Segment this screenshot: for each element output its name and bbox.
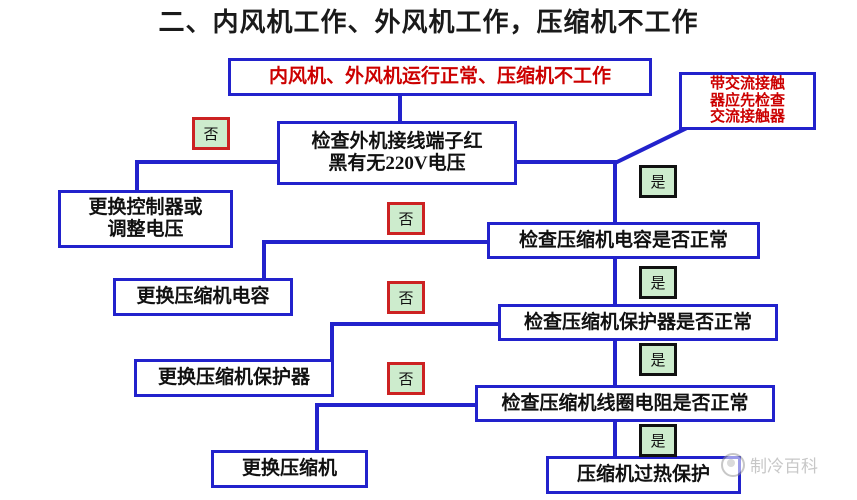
trunk-segment-2 [613, 258, 617, 308]
branch-chip-yes-3[interactable]: 是 [639, 343, 677, 376]
connector-check3-no-vertical [330, 322, 334, 360]
trunk-segment-3 [613, 338, 617, 386]
node-check-compressor-coil-resistance[interactable]: 检查压缩机线圈电阻是否正常 [475, 385, 775, 422]
connector-check4-no-vertical [315, 403, 319, 451]
node-start[interactable]: 内风机、外风机运行正常、压缩机不工作 [228, 58, 652, 96]
node-note-line1: 带交流接触 [710, 76, 785, 93]
branch-chip-yes-2[interactable]: 是 [639, 266, 677, 299]
snowflake-circle-icon [721, 453, 745, 477]
node-check-outdoor-terminal-voltage[interactable]: 检查外机接线端子红 黑有无220V电压 [277, 121, 517, 185]
connector-check1-no-horizontal [135, 160, 280, 164]
connector-note-diagonal [612, 125, 691, 166]
flowchart-canvas: 二、内风机工作、外风机工作，压缩机不工作 内风机、外风机运行正常、压缩机不工作 … [0, 0, 857, 500]
node-action-replace-controller-or-adjust-voltage[interactable]: 更换控制器或 调整电压 [58, 190, 233, 248]
node-action-replace-compressor-protector[interactable]: 更换压缩机保护器 [134, 359, 334, 397]
node-action-replace-compressor[interactable]: 更换压缩机 [211, 450, 368, 488]
branch-chip-no-3[interactable]: 否 [387, 281, 425, 314]
node-check-compressor-capacitor[interactable]: 检查压缩机电容是否正常 [487, 222, 760, 259]
watermark-text: 制冷百科 [750, 452, 818, 477]
node-check1-line1: 检查外机接线端子红 [311, 131, 482, 153]
branch-chip-no-4[interactable]: 否 [387, 362, 425, 395]
trunk-segment-4 [613, 418, 617, 458]
node-action-replace-compressor-capacitor[interactable]: 更换压缩机电容 [113, 278, 293, 316]
connector-check1-yes-horizontal [516, 160, 616, 164]
node-note-line3: 交流接触器 [710, 109, 785, 126]
node-note[interactable]: 带交流接触 器应先检查 交流接触器 [679, 72, 816, 130]
branch-chip-no-2[interactable]: 否 [387, 202, 425, 235]
trunk-segment-1 [613, 160, 617, 222]
node-check-compressor-protector[interactable]: 检查压缩机保护器是否正常 [498, 304, 778, 341]
node-note-line2: 器应先检查 [710, 93, 785, 110]
branch-chip-yes-4[interactable]: 是 [639, 424, 677, 457]
page-title: 二、内风机工作、外风机工作，压缩机不工作 [0, 2, 857, 39]
connector-start-to-check1 [398, 95, 402, 121]
connector-check2-no-vertical [262, 240, 266, 278]
connector-check2-no-horizontal [262, 240, 487, 244]
node-result-compressor-overheat-protection[interactable]: 压缩机过热保护 [546, 456, 741, 494]
node-action1-line1: 更换控制器或 [88, 197, 202, 219]
node-check1-line2: 黑有无220V电压 [328, 153, 465, 175]
branch-chip-no-1[interactable]: 否 [192, 117, 230, 150]
connector-check1-no-vertical [135, 160, 139, 190]
branch-chip-yes-1[interactable]: 是 [639, 165, 677, 198]
connector-check4-no-horizontal [315, 403, 475, 407]
connector-check3-no-horizontal [330, 322, 498, 326]
watermark: 制冷百科 [721, 452, 818, 477]
node-action1-line2: 调整电压 [107, 219, 183, 241]
